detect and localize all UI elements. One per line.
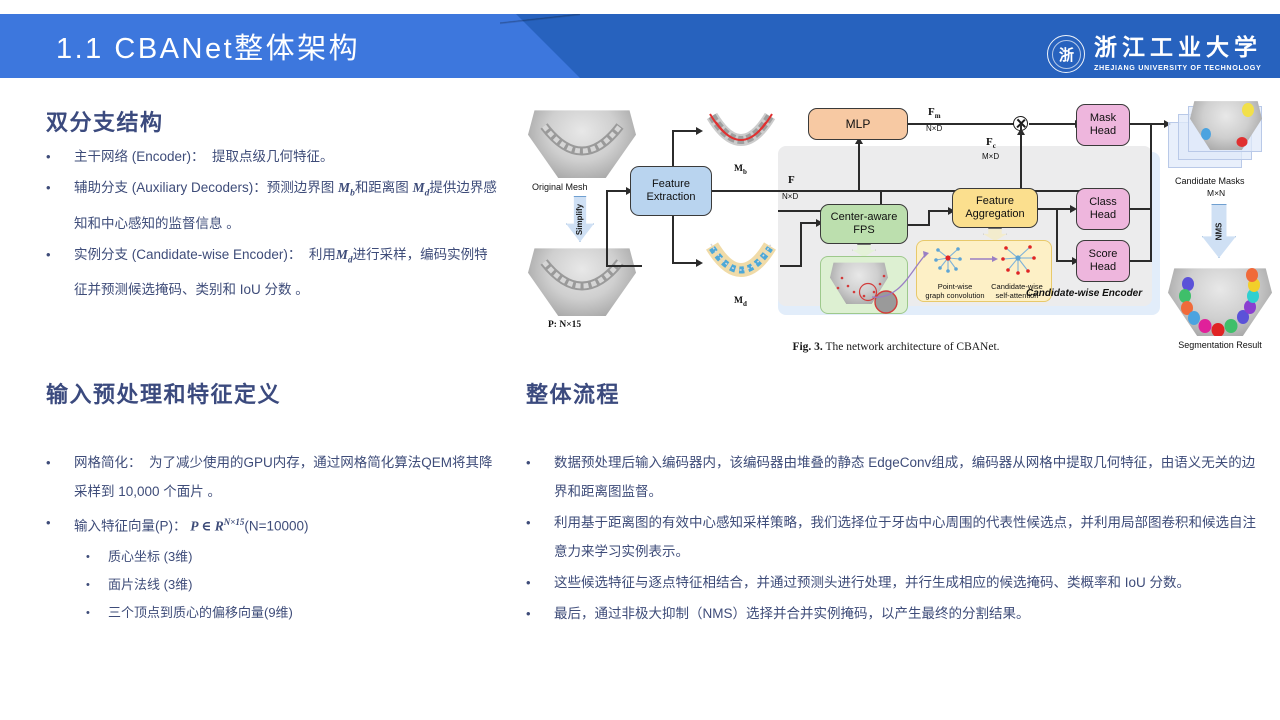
diagram-line [800,222,802,267]
block-feature-extraction: Feature Extraction [630,166,712,216]
bullet-text: 利用基于距离图的有效中心感知采样策略，我们选择位于牙齿中心周围的代表性候选点，并… [554,508,1262,566]
bullet-dot-icon: • [46,142,74,171]
label-simplify: Simplify [576,203,585,234]
label-nms: NMS [1215,222,1224,240]
university-logo: 浙 浙江工业大学 ZHEJIANG UNIVERSITY OF TECHNOLO… [1047,32,1262,76]
diagram-line [672,130,674,166]
slide-root: 1.1 CBANet整体架构 浙 浙江工业大学 ZHEJIANG UNIVERS… [0,0,1280,720]
diagram-line [606,190,608,267]
simplify-arrow-icon: Simplify [566,196,594,242]
sub-bullet-dot-icon: • [86,599,108,627]
bullet-dot-icon: • [526,599,554,628]
sub-bullet-text: 质心坐标 (3维) [108,543,193,571]
nms-arrow-icon: NMS [1202,204,1236,258]
seal-glyph: 浙 [1048,36,1084,72]
sub-bullet-dot-icon: • [86,571,108,599]
label-score-head-l1: Score [1089,248,1118,261]
distance-map-icon [702,238,780,296]
sub-bullet-text: 面片法线 (3维) [108,571,193,599]
logo-name-en: ZHEJIANG UNIVERSITY OF TECHNOLOGY [1094,63,1262,72]
block-mlp: MLP [808,108,908,140]
section-heading-dual-branch: 双分支结构 [46,105,164,137]
diagram-line [908,123,1020,125]
bullet-text: 这些候选特征与逐点特征相结合，并通过预测头进行处理，并行生成相应的候选掩码、类概… [554,568,1262,597]
diagram-line [1130,208,1152,210]
label-mask-head-l1: Mask [1090,112,1116,125]
label-feature-extraction-l2: Extraction [647,191,696,204]
bullet-text: 网格简化： 为了减少使用的GPU内存，通过网格简化算法QEM将其降采样到 10,… [74,448,498,506]
block-score-head: Score Head [1076,240,1130,282]
label-feature-extraction-l1: Feature [652,178,690,191]
bullet-dot-icon: • [526,508,554,537]
boundary-map-icon [702,106,780,164]
network-architecture-figure: Original Mesh Simplify P: N×15 Featu [520,92,1272,364]
bullet-dot-icon: • [526,568,554,597]
sub-bullet-text: 三个顶点到质心的偏移向量(9维) [108,599,293,627]
bullet-text: 数据预处理后输入编码器内，该编码器由堆叠的静态 EdgeConv组成，编码器从网… [554,448,1262,506]
label-fm-symbol: Fm [928,106,941,120]
bullet-text: 最后，通过非极大抑制（NMS）选择并合并实例掩码，以产生最终的分割结果。 [554,599,1262,628]
list-item: • 网格简化： 为了减少使用的GPU内存，通过网格简化算法QEM将其降采样到 1… [46,448,498,506]
label-f-symbol: F [788,174,795,186]
list-item: • 这些候选特征与逐点特征相结合，并通过预测头进行处理，并行生成相应的候选掩码、… [526,568,1262,597]
label-fc-dim: M×D [982,152,999,161]
bullet-dot-icon: • [46,240,74,269]
list-item: • 利用基于距离图的有效中心感知采样策略，我们选择位于牙齿中心周围的代表性候选点… [526,508,1262,566]
slide-title: 1.1 CBANet整体架构 [56,14,360,78]
university-seal-icon: 浙 [1047,35,1085,73]
list-item: • 数据预处理后输入编码器内，该编码器由堆叠的静态 EdgeConv组成，编码器… [526,448,1262,506]
label-score-head-l2: Head [1090,261,1116,274]
bullet-list-dual-branch: • 主干网络 (Encoder)： 提取点级几何特征。 • 辅助分支 (Auxi… [46,142,498,306]
architecture-diagram: Original Mesh Simplify P: N×15 Featu [520,92,1272,364]
label-class-head-l1: Class [1089,196,1117,209]
section-heading-overall-flow: 整体流程 [526,377,620,409]
sub-list-item: • 质心坐标 (3维) [86,543,498,571]
label-fc-symbol: Fc [986,136,996,150]
diagram-line [1038,208,1072,210]
block-feature-aggregation: Feature Aggregation [952,188,1038,228]
diagram-line [908,224,930,226]
boundary-map-image [702,106,780,164]
bullet-list-input-preprocess: • 网格简化： 为了减少使用的GPU内存，通过网格简化算法QEM将其降采样到 1… [46,448,498,627]
bullet-text: 实例分支 (Candidate-wise Encoder)： 利用Md进行采样，… [74,240,498,305]
diagram-line [1130,260,1152,262]
bullet-dot-icon: • [46,448,74,477]
figure-caption-text: The network architecture of CBANet. [825,341,999,353]
label-feature-aggregation-l1: Feature [976,195,1014,208]
candidate-mask-highlights-icon [1168,96,1272,174]
diagram-line [672,216,674,264]
label-mb: Mb [734,164,747,176]
diagram-line [928,210,930,226]
simplified-mesh-image [528,244,636,316]
list-item: • 实例分支 (Candidate-wise Encoder)： 利用Md进行采… [46,240,498,305]
diagram-line [858,144,860,190]
diagram-line [1029,123,1077,125]
bullet-text: 辅助分支 (Auxiliary Decoders)：预测边界图 Mb和距离图 M… [74,173,498,238]
label-p-dimension: P: N×15 [548,320,581,330]
logo-name-cn: 浙江工业大学 [1094,36,1262,60]
original-mesh-image [528,106,636,178]
logo-text-block: 浙江工业大学 ZHEJIANG UNIVERSITY OF TECHNOLOGY [1094,36,1262,71]
bullet-text: 输入特征向量(P)： P ∈ RN×15(N=10000) [74,508,498,541]
sub-bullet-list: • 质心坐标 (3维) • 面片法线 (3维) • 三个顶点到质心的偏移向量(9… [86,543,498,627]
label-feature-aggregation-l2: Aggregation [965,208,1024,221]
curved-link-icon [870,242,930,302]
section-heading-input-preprocess: 输入预处理和特征定义 [46,377,281,409]
label-center-aware-fps-l1: Center-aware [831,211,898,224]
figure-caption: Fig. 3. The network architecture of CBAN… [520,341,1272,353]
label-candidate-masks-dim: M×N [1207,188,1225,198]
sub-list-item: • 面片法线 (3维) [86,571,498,599]
distance-map-image [702,238,780,296]
diagram-line-f [712,190,1118,192]
bullet-text: 主干网络 (Encoder)： 提取点级几何特征。 [74,142,498,171]
diagram-line [606,265,642,267]
diagram-line [1150,123,1152,262]
arrow-head-icon [1017,128,1025,135]
label-center-aware-fps-l2: FPS [853,224,874,237]
label-mask-head-l2: Head [1090,125,1116,138]
diagram-line [780,265,802,267]
label-md: Md [734,296,747,308]
block-center-aware-fps: Center-aware FPS [820,204,908,244]
diagram-line [928,210,950,212]
block-class-head: Class Head [1076,188,1130,230]
label-fm-dim: N×D [926,124,942,133]
original-mesh-teeth-icon [528,106,636,178]
list-item: • 最后，通过非极大抑制（NMS）选择并合并实例掩码，以产生最终的分割结果。 [526,599,1262,628]
block-mask-head: Mask Head [1076,104,1130,146]
figure-caption-label: Fig. 3. [792,341,822,353]
label-point-wise-graph-convolution: Point-wisegraph convolution [924,282,986,300]
label-f-dim: N×D [782,192,798,201]
simplified-mesh-teeth-icon [528,244,636,316]
bullet-dot-icon: • [526,448,554,477]
diagram-line [1056,208,1058,262]
list-item: • 主干网络 (Encoder)： 提取点级几何特征。 [46,142,498,171]
sub-bullet-dot-icon: • [86,543,108,571]
bullet-dot-icon: • [46,508,74,537]
diagram-line [672,262,698,264]
diagram-line [606,190,628,192]
list-item: • 辅助分支 (Auxiliary Decoders)：预测边界图 Mb和距离图… [46,173,498,238]
label-candidate-masks: Candidate Masks [1175,176,1245,186]
label-original-mesh: Original Mesh [532,182,588,192]
list-item: • 输入特征向量(P)： P ∈ RN×15(N=10000) [46,508,498,541]
label-class-head-l2: Head [1090,209,1116,222]
candidate-masks-image [1168,96,1272,174]
bullet-list-overall-flow: • 数据预处理后输入编码器内，该编码器由堆叠的静态 EdgeConv组成，编码器… [526,448,1262,630]
bullet-dot-icon: • [46,173,74,202]
header-banner: 1.1 CBANet整体架构 浙 浙江工业大学 ZHEJIANG UNIVERS… [0,14,1280,78]
label-candidate-wise-encoder: Candidate-wise Encoder [1026,288,1142,299]
sub-list-item: • 三个顶点到质心的偏移向量(9维) [86,599,498,627]
diagram-line [672,130,698,132]
segmentation-teeth-icon [1168,264,1272,336]
